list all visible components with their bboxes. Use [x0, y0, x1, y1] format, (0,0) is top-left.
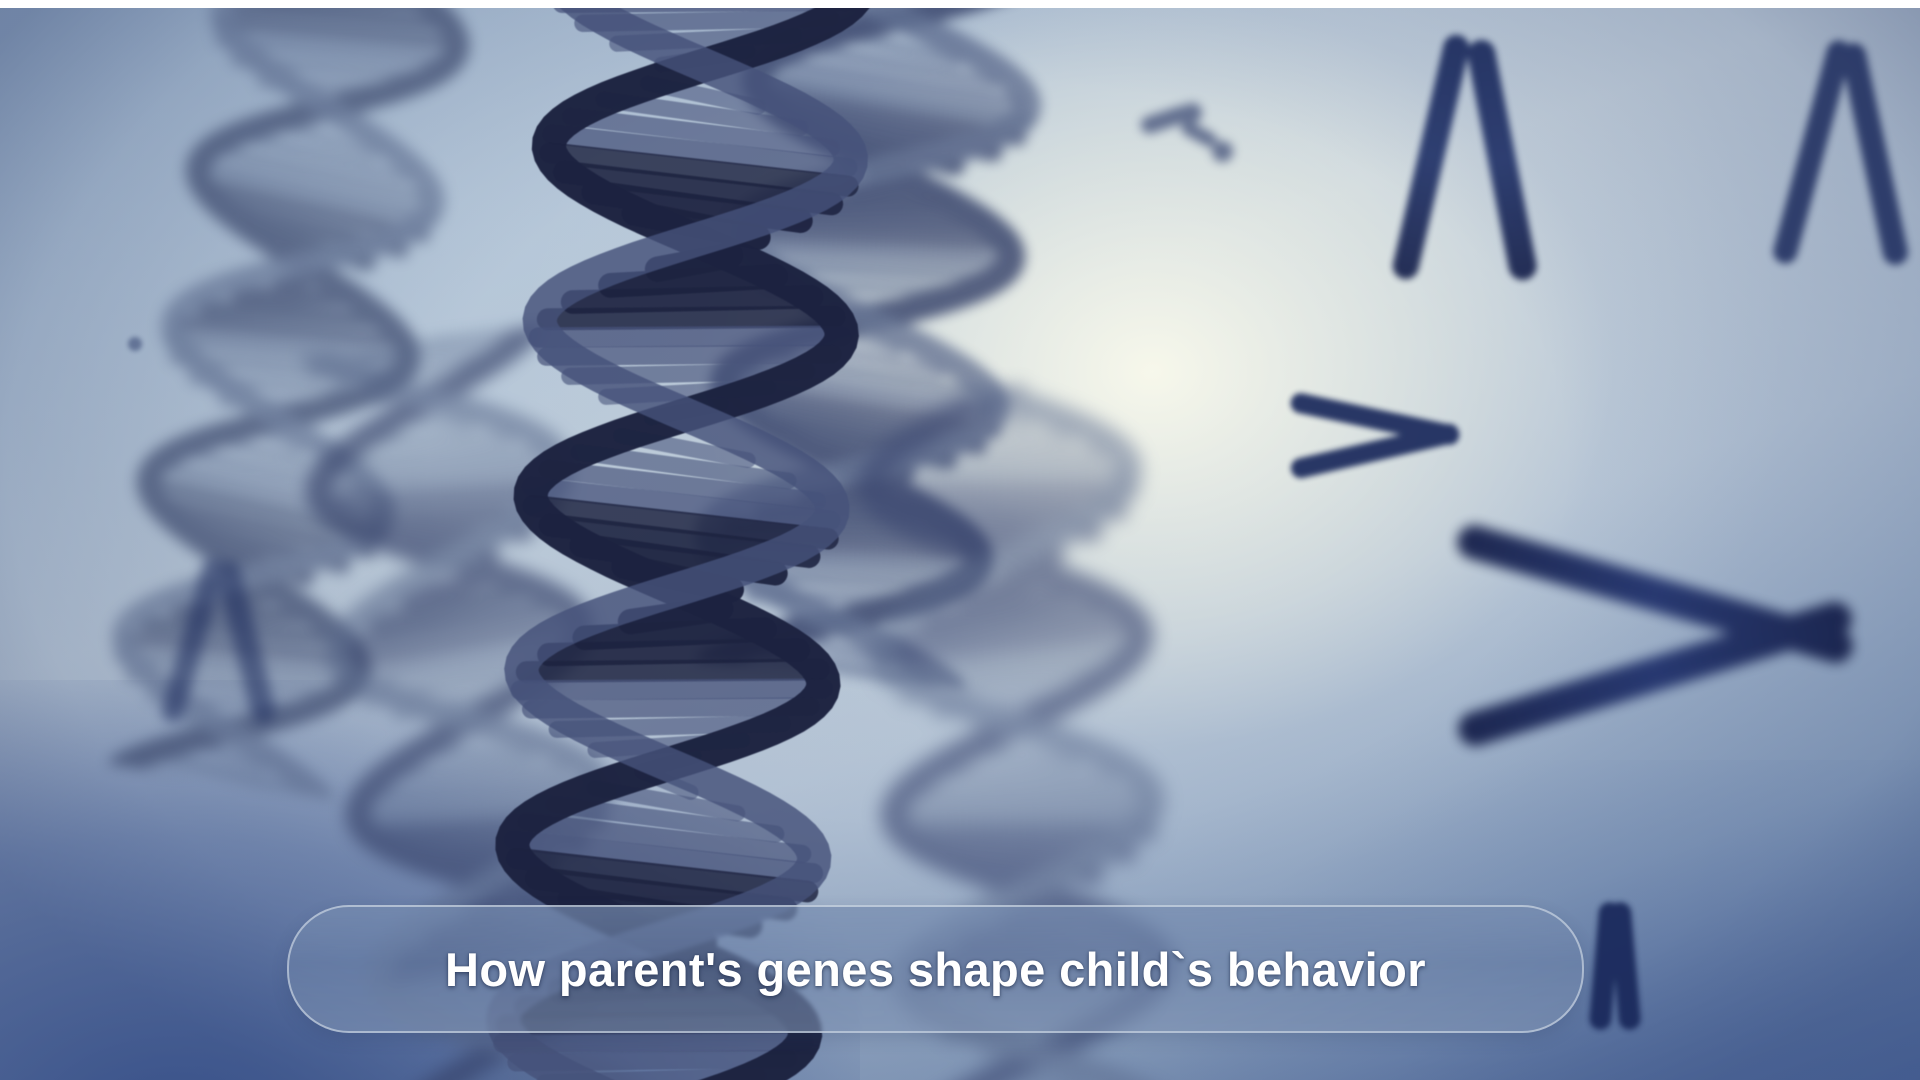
caption-title: How parent's genes shape child`s behavio…: [445, 942, 1426, 997]
chromosome-speck-top-left: [128, 337, 142, 351]
chromosome-bottom-right-small: [1592, 902, 1642, 1030]
screenshot-root: How parent's genes shape child`s behavio…: [0, 0, 1920, 1080]
chromosome-left-mid: [168, 555, 308, 725]
caption-overlay-bar: How parent's genes shape child`s behavio…: [287, 905, 1584, 1033]
top-white-strip: [0, 0, 1920, 8]
chromosome-bottom-right-large: [1460, 527, 1850, 757]
chromosome-top-right-large: [1400, 32, 1600, 282]
chromosome-top-right-far: [1790, 37, 1920, 267]
chromosome-mid-right-bowtie: [1295, 389, 1455, 485]
chromosome-top-center-small: [1140, 97, 1250, 177]
